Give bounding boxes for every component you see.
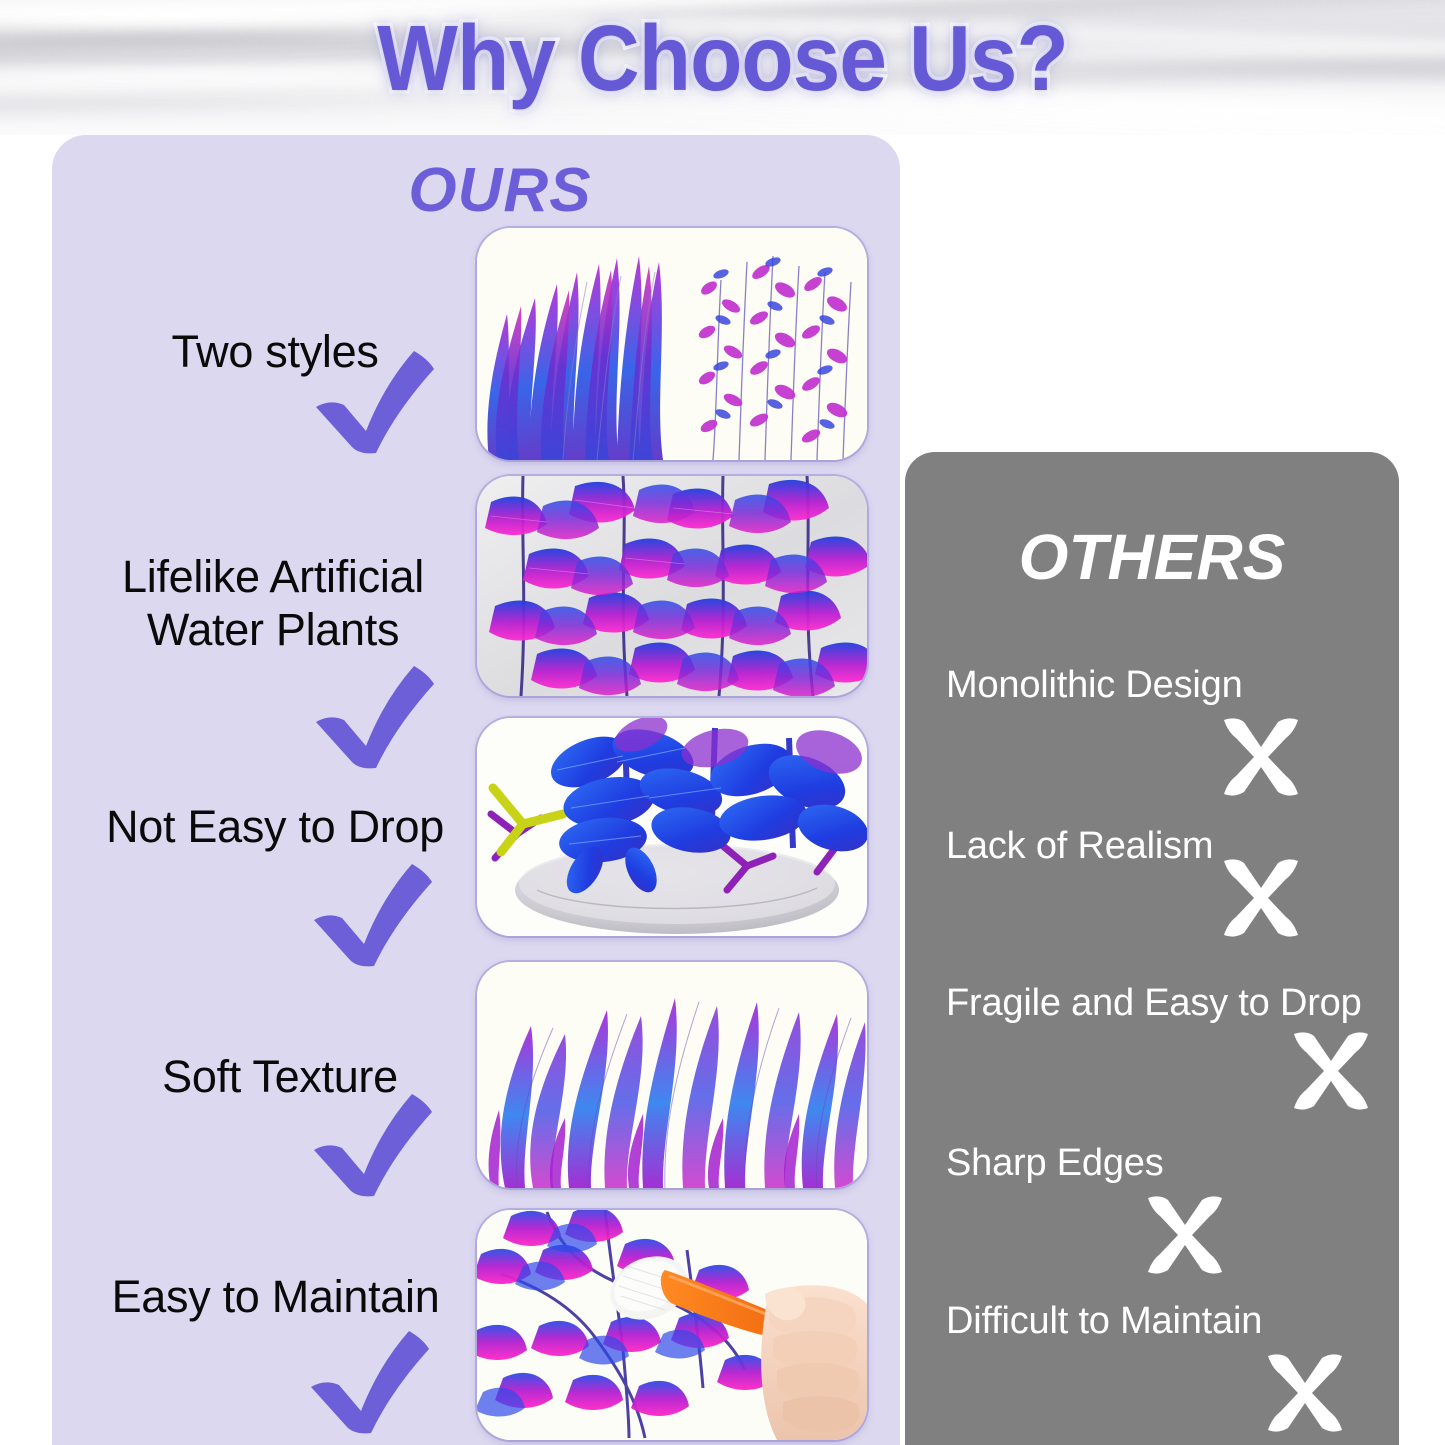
drawback-label: Fragile and Easy to Drop <box>946 982 1362 1025</box>
product-image-not-easy-to-drop <box>477 718 867 936</box>
cross-mark-icon <box>1218 714 1304 800</box>
checkmark-icon <box>308 858 438 968</box>
drawback-label: Sharp Edges <box>946 1142 1164 1185</box>
checkmark-icon <box>308 1088 438 1198</box>
brush-cleaning-art <box>477 1210 867 1440</box>
ours-heading: OURS <box>340 155 660 226</box>
feature-label: Not Easy to Drop <box>75 800 475 853</box>
cross-mark-icon <box>1142 1192 1228 1278</box>
drawback-label: Monolithic Design <box>946 664 1243 707</box>
product-image-lifelike <box>477 476 867 696</box>
checkmark-icon <box>310 660 440 770</box>
soft-texture-art <box>477 962 867 1188</box>
two-styles-art <box>477 228 867 460</box>
page-title: Why Choose Us? <box>58 6 1387 110</box>
drawback-label: Lack of Realism <box>946 825 1213 868</box>
feature-label: Easy to Maintain <box>78 1270 473 1323</box>
cross-mark-icon <box>1262 1350 1348 1436</box>
cross-mark-icon <box>1218 855 1304 941</box>
cross-mark-icon <box>1288 1028 1374 1114</box>
checkmark-icon <box>305 1325 435 1435</box>
anchored-base-art <box>477 718 867 936</box>
product-image-two-styles <box>477 228 867 460</box>
lifelike-art <box>477 476 867 696</box>
others-heading: OTHERS <box>905 520 1399 594</box>
product-image-soft-texture <box>477 962 867 1188</box>
checkmark-icon <box>310 345 440 455</box>
others-panel <box>905 452 1399 1445</box>
feature-label: Lifelike Artificial Water Plants <box>68 550 478 656</box>
product-image-easy-to-maintain <box>477 1210 867 1440</box>
drawback-label: Difficult to Maintain <box>946 1300 1262 1343</box>
